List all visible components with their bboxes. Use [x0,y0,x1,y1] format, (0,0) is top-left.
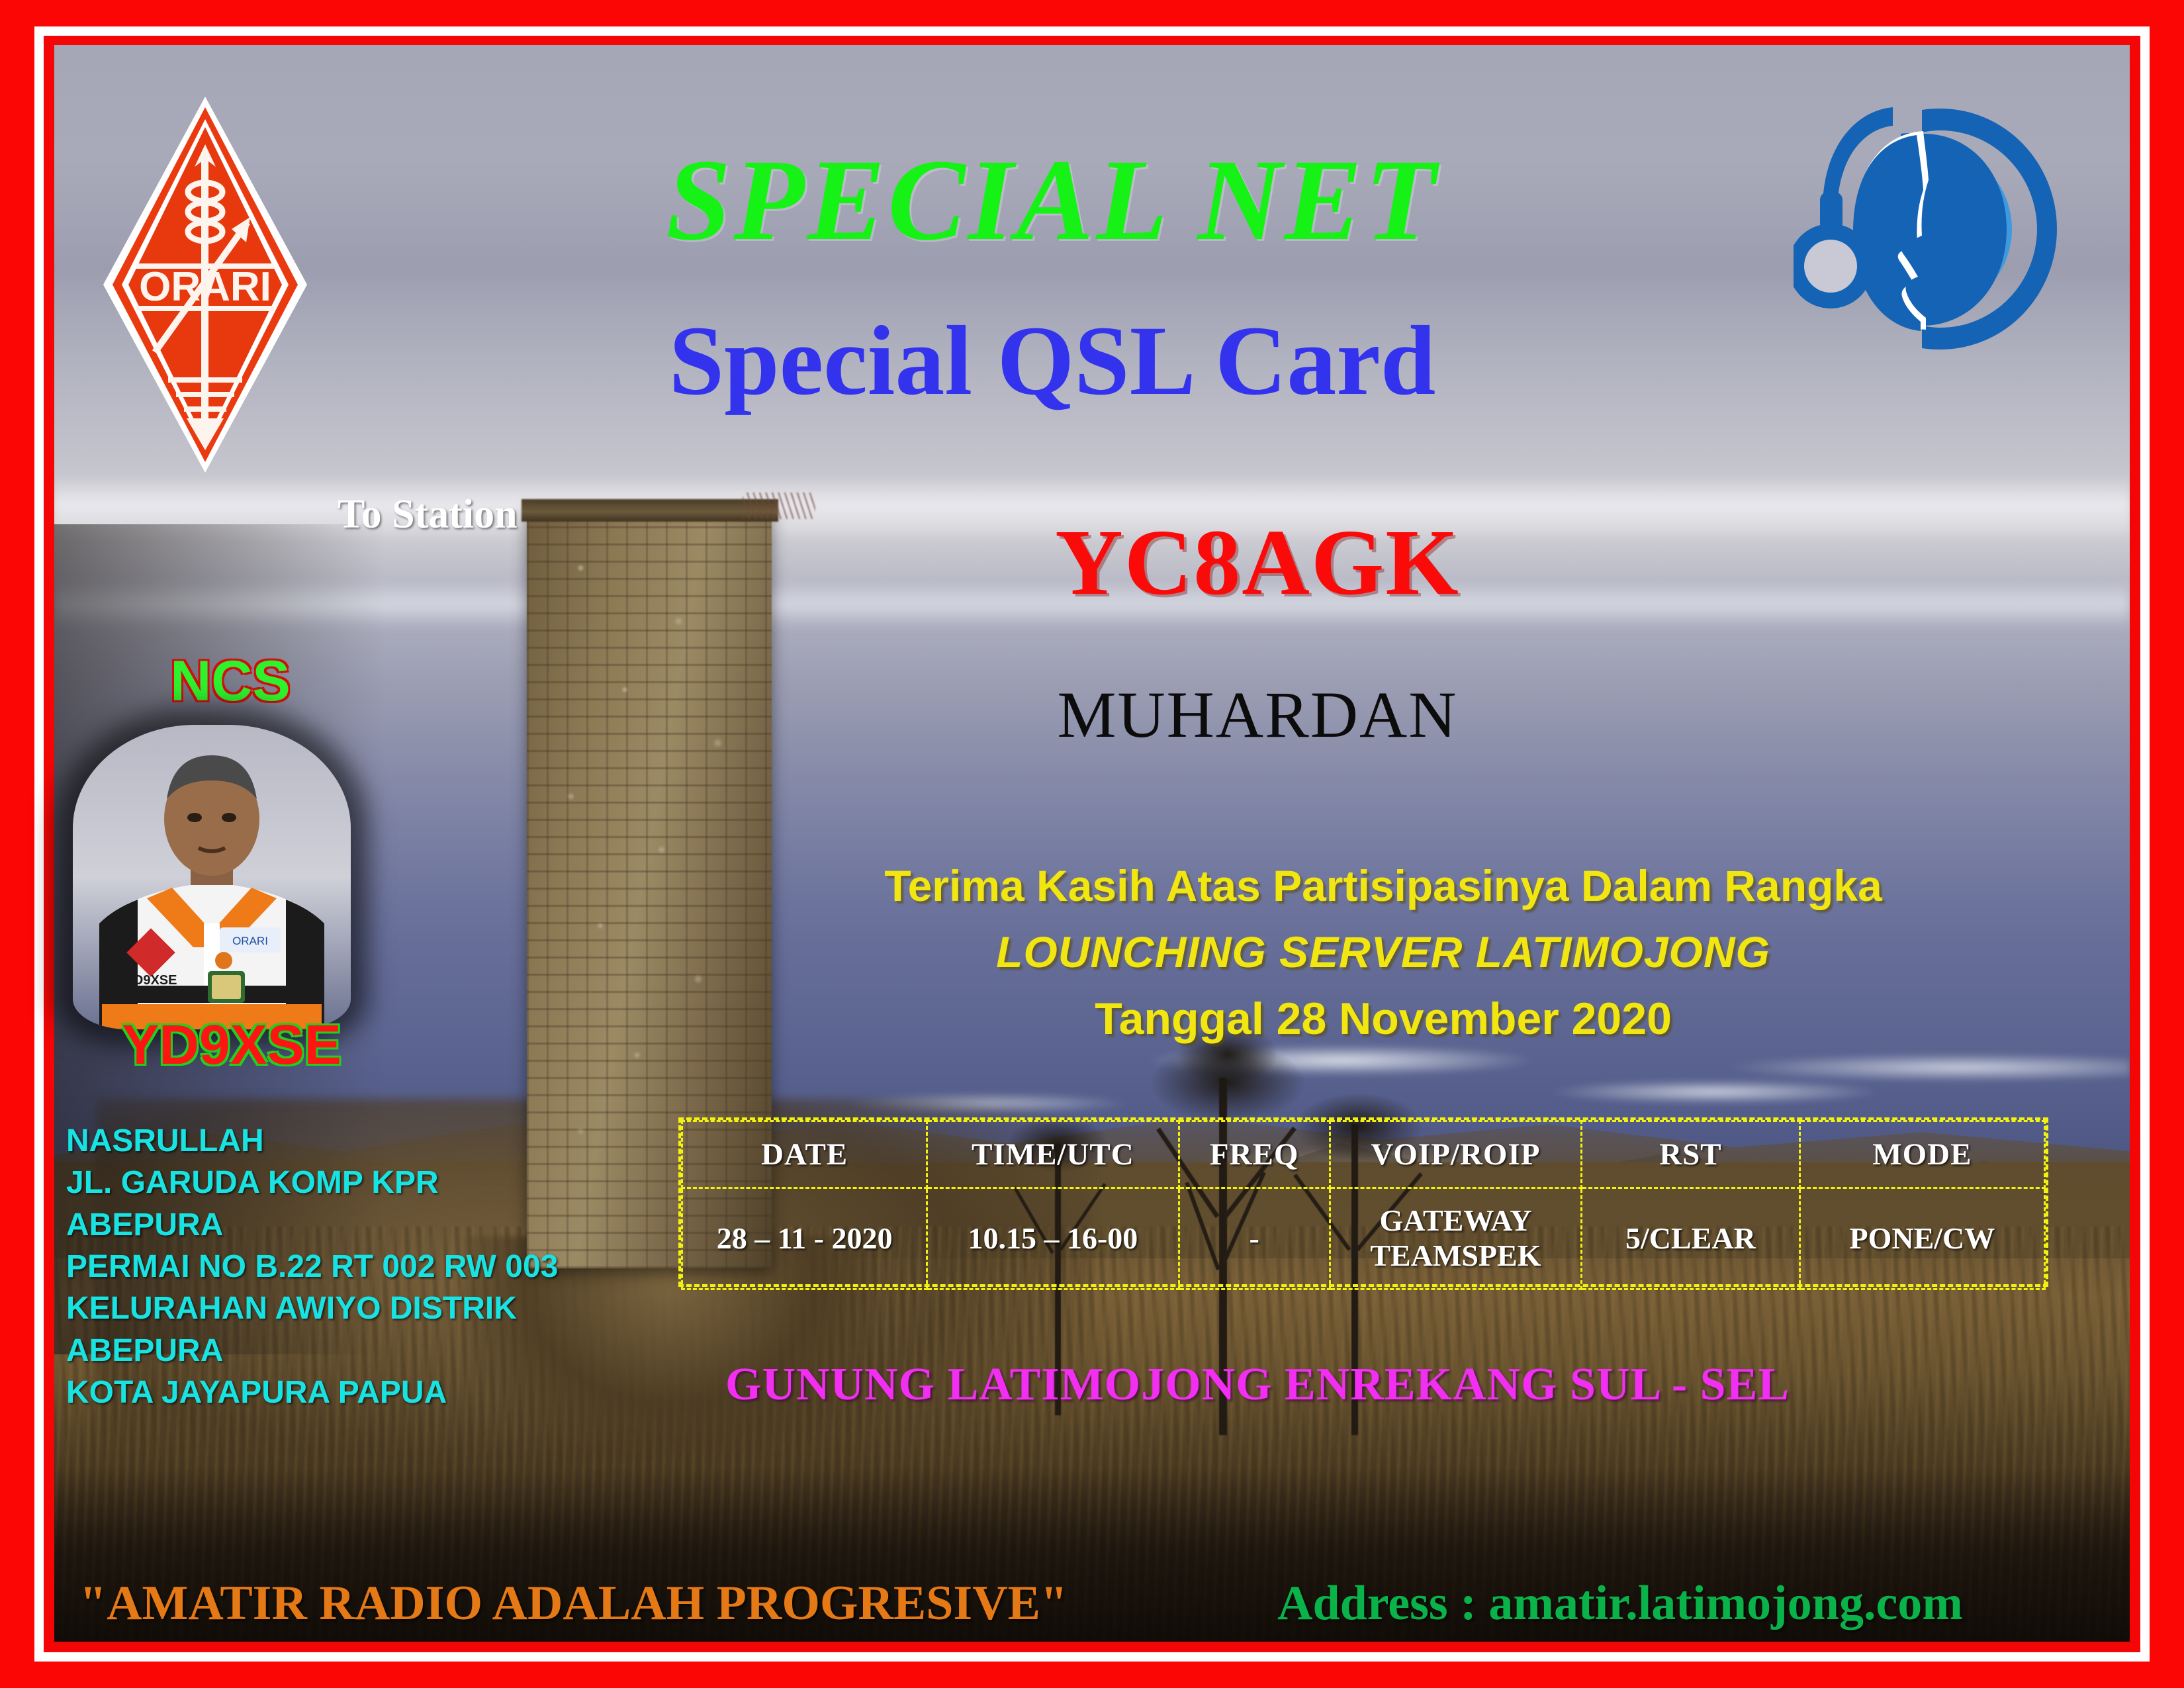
voip-headphone-logo [1794,99,2065,357]
table-row: 28 – 11 - 2020 10.15 – 16-00 - GATEWAY T… [682,1188,2045,1289]
orari-logo-icon: ORARI [99,93,311,477]
footer-website: Address : amatir.latimojong.com [1277,1575,1963,1632]
cell-voip-roip: GATEWAY TEAMSPEK [1330,1188,1581,1289]
orari-logo: ORARI [99,93,311,477]
address-line: PERMAI NO B.22 RT 002 RW 003 [66,1246,695,1288]
cell-freq: - [1179,1188,1330,1289]
address-line: ABEPURA [66,1204,695,1246]
station-callsign: YC8AGK [860,515,1655,609]
address-line: KOTA JAYAPURA PAPUA [66,1372,695,1413]
page-title: SPECIAL NET [424,142,1681,259]
operator-name: MUHARDAN [860,682,1655,748]
svg-text:ORARI: ORARI [232,935,268,947]
greeting-line-2: LOUNCHING SERVER LATIMOJONG [728,927,2038,977]
location-caption: GUNUNG LATIMOJONG ENREKANG SUL - SEL [629,1358,1886,1411]
col-header-time: TIME/UTC [927,1121,1179,1188]
ncs-operator-photo: ORARI YD9XSE [73,725,351,1029]
cell-rst: 5/CLEAR [1582,1188,1800,1289]
page-subtitle: Special QSL Card [424,311,1681,410]
to-station-label: To Station [338,491,518,538]
ncs-operator-portrait: ORARI YD9XSE [73,725,351,1029]
address-line: JL. GARUDA KOMP KPR [66,1162,695,1203]
orari-logo-text: ORARI [139,264,271,310]
col-header-voip-roip: VOIP/ROIP [1330,1121,1581,1188]
greeting-line-3: Tanggal 28 November 2020 [728,993,2038,1045]
col-header-freq: FREQ [1179,1121,1330,1188]
voip-headphone-icon [1794,99,2065,357]
address-line: KELURAHAN AWIYO DISTRIK [66,1288,695,1329]
cell-voip-roip-line1: GATEWAY [1379,1203,1531,1237]
col-header-date: DATE [682,1121,927,1188]
footer-motto: "AMATIR RADIO ADALAH PROGRESIVE" [79,1575,1068,1632]
cell-date: 28 – 11 - 2020 [682,1188,927,1289]
address-line: ABEPURA [66,1330,695,1372]
cell-voip-roip-line2: TEAMSPEK [1370,1239,1541,1272]
address-line: NASRULLAH [66,1120,695,1162]
ncs-label: NCS [118,649,343,714]
col-header-mode: MODE [1799,1121,2044,1188]
col-header-rst: RST [1582,1121,1800,1188]
ncs-address: NASRULLAH JL. GARUDA KOMP KPR ABEPURA PE… [66,1120,695,1414]
cell-time: 10.15 – 16-00 [927,1188,1179,1289]
svg-text:YD9XSE: YD9XSE [125,973,177,988]
qso-log-table: DATE TIME/UTC FREQ VOIP/ROIP RST MODE 28… [678,1117,2048,1287]
qsl-card: ORARI SPECIAL NET Speci [0,0,2184,1688]
cell-mode: PONE/CW [1799,1188,2044,1289]
greeting-line-1: Terima Kasih Atas Partisipasinya Dalam R… [728,861,2038,911]
table-header-row: DATE TIME/UTC FREQ VOIP/ROIP RST MODE [682,1121,2045,1188]
ncs-callsign: YD9XSE [99,1013,364,1077]
